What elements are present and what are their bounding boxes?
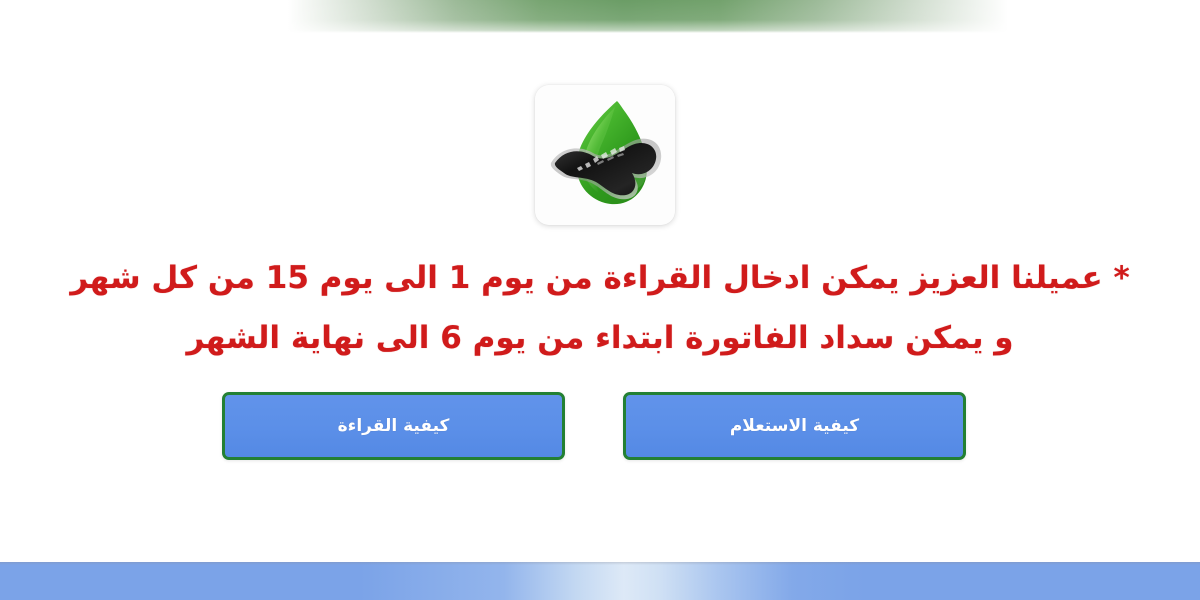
page-root: * عميلنا العزيز يمكن ادخال القراءة من يو… [0,0,1200,600]
notice-text: * عميلنا العزيز يمكن ادخال القراءة من يو… [0,248,1200,368]
app-logo [535,85,675,225]
how-to-inquire-button[interactable]: كيفية الاستعلام [623,392,966,460]
top-green-gradient-strip [0,0,1200,33]
leaf-calligraphy-icon [535,85,675,225]
notice-line-2: و يمكن سداد الفاتورة ابتداء من يوم 6 الى… [0,308,1200,368]
how-to-read-button[interactable]: كيفية القراءة [222,392,565,460]
notice-line-1: * عميلنا العزيز يمكن ادخال القراءة من يو… [0,248,1200,308]
action-button-row: كيفية القراءة كيفية الاستعلام [222,392,966,460]
bottom-blue-bar [0,562,1200,600]
